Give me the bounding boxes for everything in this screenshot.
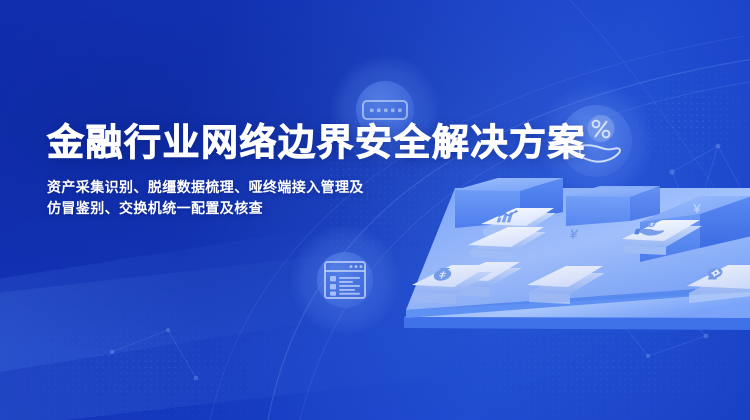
- document-list-icon: [323, 260, 367, 300]
- badge-document-list: [290, 225, 400, 335]
- banner-text-block: 金融行业网络边界安全解决方案 资产采集识别、脱缰数据梳理、哑终端接入管理及 仿冒…: [47, 120, 586, 219]
- subtitle-line-2: 仿冒鉴别、交换机统一配置及核查: [47, 198, 586, 219]
- page-title: 金融行业网络边界安全解决方案: [47, 120, 586, 166]
- page-subtitle: 资产采集识别、脱缰数据梳理、哑终端接入管理及 仿冒鉴别、交换机统一配置及核查: [47, 177, 586, 219]
- banner-root: ¥: [0, 0, 750, 420]
- subtitle-line-1: 资产采集识别、脱缰数据梳理、哑终端接入管理及: [47, 177, 586, 198]
